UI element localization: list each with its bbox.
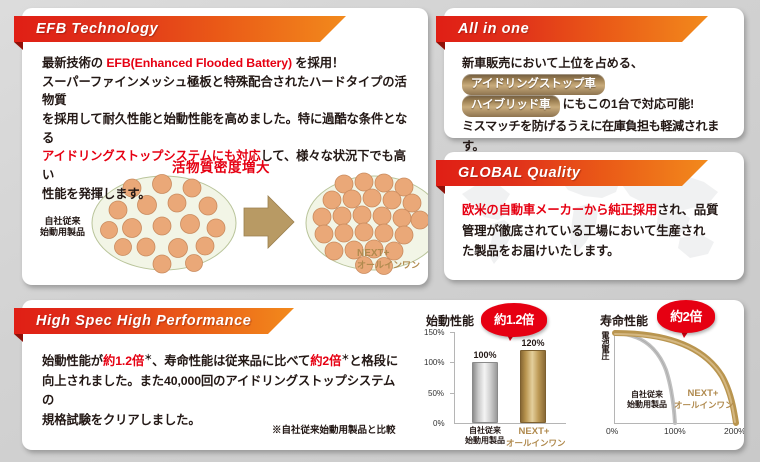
ribbon-fold-highspec bbox=[14, 334, 23, 342]
callout-bubble-1-2x: 約1.2倍 bbox=[481, 303, 547, 337]
highspec-line1-b: 、寿命性能は従来品に比べて bbox=[152, 354, 310, 368]
density-left-label-line1: 自社従来 bbox=[40, 216, 85, 227]
highspec-line-2: 向上されました。また40,000回のアイドリングストップシステムの bbox=[42, 372, 402, 411]
chart1-x-axis bbox=[454, 423, 566, 424]
chart1-tick-mark-100 bbox=[450, 362, 454, 363]
chart2-xtick-200: 200% bbox=[724, 426, 744, 436]
chart1-tick-mark-150 bbox=[450, 332, 454, 333]
callout-bubble-1-label: 約1.2倍 bbox=[494, 314, 534, 327]
chart1-cat0-line2: 始動用製品 bbox=[461, 436, 509, 446]
chart1-tick-mark-50 bbox=[450, 393, 454, 394]
ribbon-high-spec: High Spec High Performance bbox=[14, 308, 294, 334]
chart1-category-next: NEXT+ オールインワン bbox=[506, 426, 562, 449]
highspec-line1-red2: 約2倍 bbox=[310, 354, 341, 368]
chart1-category-conventional: 自社従来 始動用製品 bbox=[461, 426, 509, 446]
chart1-bar-conventional bbox=[472, 362, 498, 423]
density-left-label-line2: 始動用製品 bbox=[40, 227, 85, 238]
global-line1-b: され、品質 bbox=[657, 203, 718, 217]
callout-bubble-2x: 約2倍 bbox=[657, 300, 715, 333]
chart2-series0-line2: 始動用製品 bbox=[622, 400, 672, 410]
ribbon-global-quality: GLOBAL Quality bbox=[436, 160, 708, 186]
poster-root: 活物質密度増大 bbox=[0, 0, 760, 462]
allinone-line-3: ハイブリッド車にもこの1台で対応可能! bbox=[462, 95, 734, 117]
ribbon-title-global-quality: GLOBAL Quality bbox=[458, 165, 581, 181]
chart1-ytick-150: 150% bbox=[424, 328, 444, 337]
global-line-3: た製品をお届けいたします。 bbox=[462, 241, 734, 262]
pill-idling-stop-car: アイドリングストップ車 bbox=[462, 74, 605, 96]
efb-body-text: 最新技術の EFB(Enhanced Flooded Battery) を採用！… bbox=[42, 54, 416, 204]
efb-line1-a: 最新技術の bbox=[42, 56, 106, 70]
global-line1-red: 欧米の自動車メーカーから純正採用 bbox=[462, 203, 657, 217]
global-line-2: 管理が徹底されている工場において生産され bbox=[462, 221, 734, 242]
ribbon-title-all-in-one: All in one bbox=[458, 21, 529, 37]
card-high-spec: 始動性能 150% 100% 50% 0% 100% 120% 自社従来 bbox=[22, 300, 744, 450]
ribbon-title-efb: EFB Technology bbox=[36, 21, 158, 37]
density-right-label-line1: NEXT+ bbox=[357, 248, 420, 260]
density-left-label: 自社従来 始動用製品 bbox=[40, 216, 85, 239]
card-global-quality: GLOBAL Quality 欧米の自動車メーカーから純正採用され、品質 管理が… bbox=[444, 152, 744, 280]
callout-bubble-2-label: 約2倍 bbox=[670, 310, 702, 323]
chart1-value-conventional: 100% bbox=[469, 350, 501, 360]
chart2-series0-line1: 自社従来 bbox=[622, 390, 672, 400]
chart2-series1-line1: NEXT+ bbox=[674, 388, 732, 400]
global-line-1: 欧米の自動車メーカーから純正採用され、品質 bbox=[462, 200, 734, 221]
highspec-line-1: 始動性能が約1.2倍＊、寿命性能は従来品に比べて約2倍＊と格段に bbox=[42, 352, 402, 372]
pill-hybrid-car: ハイブリッド車 bbox=[462, 95, 560, 117]
highspec-line1-c: と格段に bbox=[349, 354, 398, 368]
global-body-text: 欧米の自動車メーカーから純正採用され、品質 管理が徹底されている工場において生産… bbox=[462, 200, 734, 262]
allinone-body-text: 新車販売において上位を占める、 アイドリングストップ車 ハイブリッド車にもこの1… bbox=[462, 54, 734, 157]
chart2-xtick-0: 0% bbox=[606, 426, 618, 436]
highspec-line1-a: 始動性能が bbox=[42, 354, 103, 368]
highspec-star-1: ＊ bbox=[144, 353, 152, 362]
efb-line-5: 性能を発揮します。 bbox=[42, 185, 416, 204]
chart1-title: 始動性能 bbox=[426, 312, 474, 329]
chart2-series1-line2: オールインワン bbox=[674, 400, 732, 411]
efb-line-4: アイドリングストップシステムにも対応して、様々な状況下でも高い bbox=[42, 147, 416, 184]
chart1-cat0-line1: 自社従来 bbox=[461, 426, 509, 436]
ribbon-all-in-one: All in one bbox=[436, 16, 708, 42]
chart1-value-next: 120% bbox=[517, 338, 549, 348]
highspec-body-text: 始動性能が約1.2倍＊、寿命性能は従来品に比べて約2倍＊と格段に 向上されました… bbox=[42, 352, 402, 431]
ribbon-efb-technology: EFB Technology bbox=[14, 16, 346, 42]
efb-line1-red: EFB(Enhanced Flooded Battery) bbox=[106, 56, 292, 70]
density-right-label-line2: オールインワン bbox=[357, 260, 420, 271]
efb-line-2: スーパーファインメッシュ極板と特殊配合されたハードタイプの活物質 bbox=[42, 73, 416, 110]
chart1-ytick-100: 100% bbox=[424, 358, 444, 367]
allinone-line3-tail: にもこの1台で対応可能! bbox=[563, 97, 695, 111]
allinone-line-1: 新車販売において上位を占める、 bbox=[462, 54, 734, 74]
chart2-series-conventional-label: 自社従来 始動用製品 bbox=[622, 390, 672, 410]
chart1-ytick-0: 0% bbox=[433, 419, 445, 428]
chart2-series-next-label: NEXT+ オールインワン bbox=[674, 388, 732, 411]
chart2-xtick-100: 100% bbox=[664, 426, 686, 436]
ribbon-fold-efb bbox=[14, 42, 23, 50]
allinone-line-2: アイドリングストップ車 bbox=[462, 74, 734, 96]
card-all-in-one: All in one 新車販売において上位を占める、 アイドリングストップ車 ハ… bbox=[444, 8, 744, 138]
efb-line1-b: を採用！ bbox=[292, 56, 344, 70]
ribbon-title-high-spec: High Spec High Performance bbox=[36, 313, 251, 329]
efb-line-3: を採用して耐久性能と始動性能を高めました。特に過酷な条件となる bbox=[42, 110, 416, 147]
efb-line-1: 最新技術の EFB(Enhanced Flooded Battery) を採用！ bbox=[42, 54, 416, 73]
chart1-bar-next bbox=[520, 350, 546, 423]
highspec-footnote: ※自社従来始動用製品と比較 bbox=[272, 422, 396, 436]
chart1-cat1-line1: NEXT+ bbox=[506, 426, 562, 438]
chart1-cat1-line2: オールインワン bbox=[506, 438, 562, 449]
chart1-ytick-50: 50% bbox=[428, 389, 444, 398]
allinone-line-4: ミスマッチを防げるうえに在庫負担も軽減されます。 bbox=[462, 117, 734, 157]
card-efb-technology: 活物質密度増大 bbox=[22, 8, 428, 285]
highspec-line1-red: 約1.2倍 bbox=[103, 354, 144, 368]
efb-line4-red: アイドリングストップシステムにも対応 bbox=[42, 149, 261, 163]
chart1-y-axis bbox=[454, 332, 455, 424]
density-right-label: NEXT+ オールインワン bbox=[357, 248, 420, 271]
